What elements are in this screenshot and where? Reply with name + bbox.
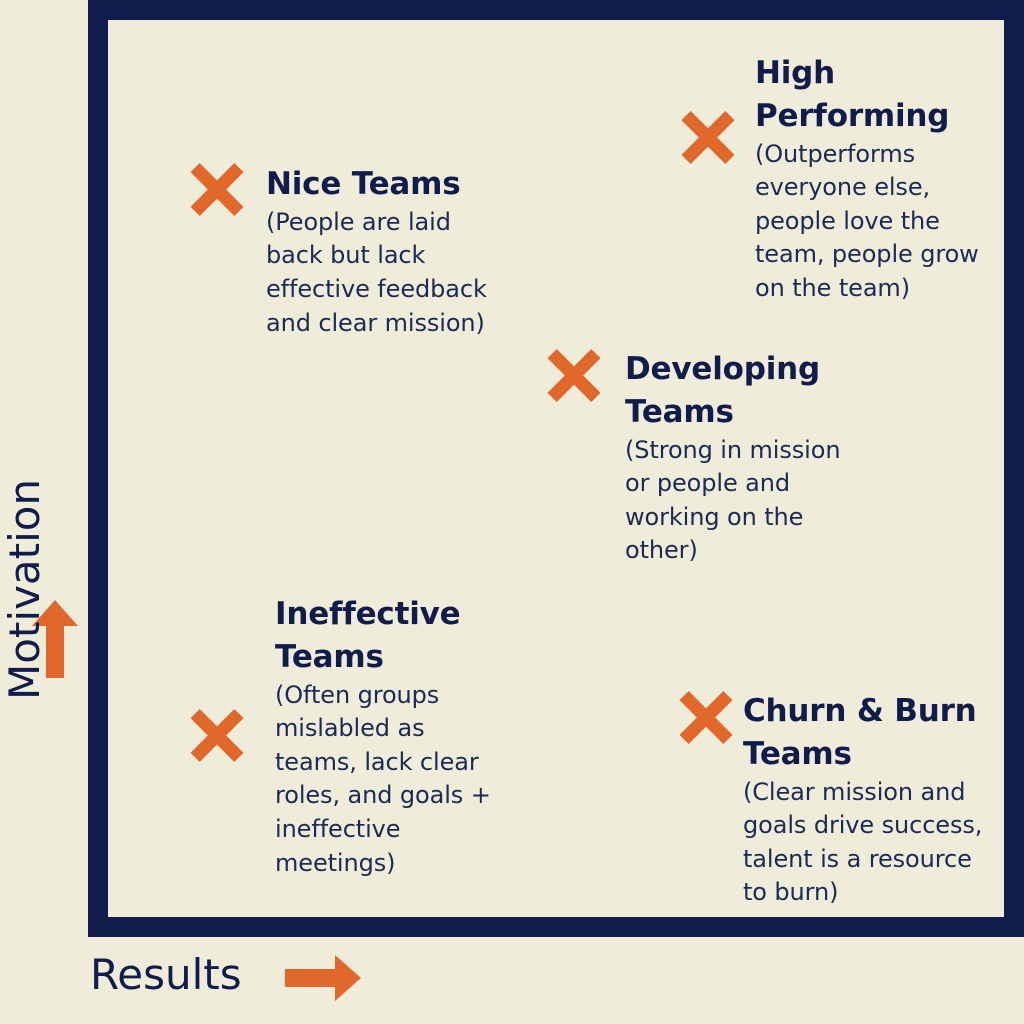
- quadrant-churn-and-burn-teams: Churn & Burn Teams (Clear mission and go…: [743, 690, 993, 910]
- quadrant-title-nice-teams: Nice Teams: [266, 163, 506, 206]
- quadrant-ineffective-teams: Ineffective Teams (Often groups mislable…: [275, 593, 505, 880]
- quadrant-title-developing-teams: Developing Teams: [625, 348, 865, 434]
- matrix-frame-bottom: [88, 917, 1024, 937]
- x-axis-label: Results: [90, 950, 242, 999]
- matrix-frame-top: [88, 0, 1024, 20]
- y-axis-label: Motivation: [0, 479, 49, 700]
- x-marker-icon-ineffective: [189, 707, 245, 763]
- quadrant-description-high-performing: (Outperforms everyone else, people love …: [755, 138, 1000, 306]
- matrix-frame-right: [1004, 0, 1024, 937]
- quadrant-high-performing: High Performing (Outperforms everyone el…: [755, 52, 1000, 306]
- quadrant-description-churn-and-burn-teams: (Clear mission and goals drive success, …: [743, 776, 993, 910]
- x-marker-icon-high-performing: [680, 109, 736, 165]
- quadrant-title-ineffective-teams: Ineffective Teams: [275, 593, 505, 679]
- matrix-frame-left: [88, 0, 108, 937]
- quadrant-nice-teams: Nice Teams (People are laid back but lac…: [266, 163, 506, 340]
- arrow-right-icon: [285, 955, 361, 1001]
- quadrant-title-churn-and-burn-teams: Churn & Burn Teams: [743, 690, 993, 776]
- x-marker-icon-developing: [546, 347, 602, 403]
- quadrant-description-developing-teams: (Strong in mission or people and working…: [625, 434, 865, 568]
- x-marker-icon-nice: [189, 161, 245, 217]
- quadrant-developing-teams: Developing Teams (Strong in mission or p…: [625, 348, 865, 568]
- quadrant-description-ineffective-teams: (Often groups mislabled as teams, lack c…: [275, 679, 505, 881]
- x-marker-icon-churn-and-burn: [678, 689, 734, 745]
- quadrant-title-high-performing: High Performing: [755, 52, 1000, 138]
- team-effectiveness-matrix: Nice Teams (People are laid back but lac…: [0, 0, 1024, 1024]
- quadrant-description-nice-teams: (People are laid back but lack effective…: [266, 206, 506, 340]
